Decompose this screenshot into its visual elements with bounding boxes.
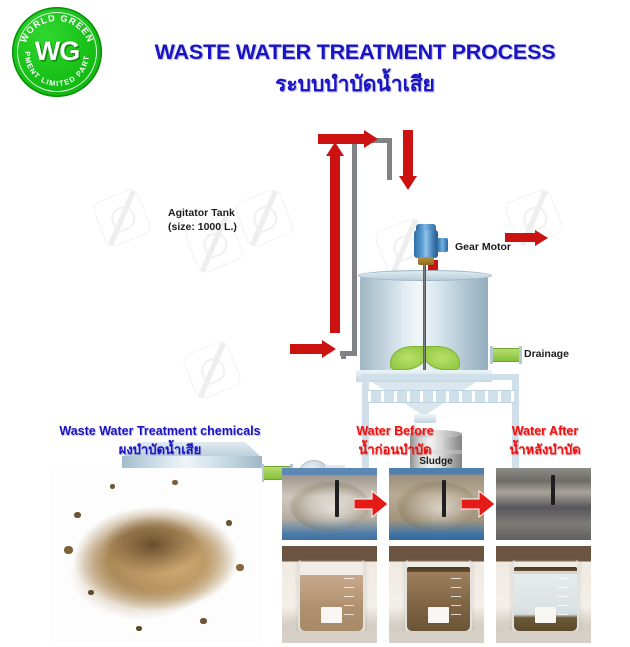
process-arrow-2-icon	[461, 489, 495, 519]
drainage-label: Drainage	[524, 348, 569, 360]
beaker-icon	[298, 560, 365, 634]
water-after-label-en: Water After	[470, 424, 620, 438]
drainage-valve-icon	[492, 348, 520, 362]
gear-motor-terminal-box	[437, 238, 448, 252]
cone-outlet	[414, 414, 436, 423]
frame-top-rail	[362, 374, 519, 380]
powder-pile	[68, 486, 244, 626]
poster-canvas: WORLD GREEN DEVELOPMENT LIMITED PARTNERS…	[0, 0, 630, 647]
chemicals-label-th: ผงบำบัดน้ำเสีย	[13, 439, 307, 460]
section-label-water-before: Water Before น้ำก่อนบำบัด	[320, 424, 470, 460]
pipe-riser	[352, 138, 357, 354]
agitator-tank-label-line2: (size: 1000 L.)	[168, 221, 237, 234]
agitator-shaft	[423, 256, 426, 372]
chemicals-label-en: Waste Water Treatment chemicals	[13, 424, 307, 438]
pipe-pump-stub	[341, 355, 346, 359]
photo-tank-after	[496, 468, 591, 540]
pipe-downspout	[387, 138, 392, 180]
logo-initials: WG	[12, 36, 102, 67]
photo-treatment-powder	[50, 468, 262, 643]
photo-beaker-mixing	[389, 546, 484, 643]
watermark-icon	[181, 339, 243, 401]
gear-motor-coupling	[418, 257, 434, 265]
section-label-water-after: Water After น้ำหลังบำบัด	[470, 424, 620, 460]
watermark-icon	[233, 187, 295, 249]
process-arrow-1-icon	[354, 489, 388, 519]
agitator-tank-label-line1: Agitator Tank	[168, 207, 235, 220]
watermark-icon	[91, 187, 153, 249]
gear-motor-label: Gear Motor	[455, 241, 511, 253]
water-before-label-en: Water Before	[320, 424, 470, 438]
company-logo: WORLD GREEN DEVELOPMENT LIMITED PARTNERS…	[12, 7, 102, 97]
platform-grate	[368, 390, 516, 403]
photo-beaker-before	[282, 546, 377, 643]
beaker-icon	[405, 560, 472, 634]
page-title-th: ระบบบำบัดน้ำเสีย	[120, 68, 590, 101]
photo-beaker-after	[496, 546, 591, 643]
gear-motor-icon	[414, 230, 438, 258]
page-title-en: WASTE WATER TREATMENT PROCESS	[120, 40, 590, 65]
section-label-chemicals: Waste Water Treatment chemicals ผงบำบัดน…	[13, 424, 307, 460]
process-diagram: Gear Motor Drainage Sludge Agitator Tank…	[0, 108, 630, 413]
water-after-label-th: น้ำหลังบำบัด	[470, 439, 620, 460]
water-before-label-th: น้ำก่อนบำบัด	[320, 439, 470, 460]
beaker-icon	[512, 560, 579, 634]
